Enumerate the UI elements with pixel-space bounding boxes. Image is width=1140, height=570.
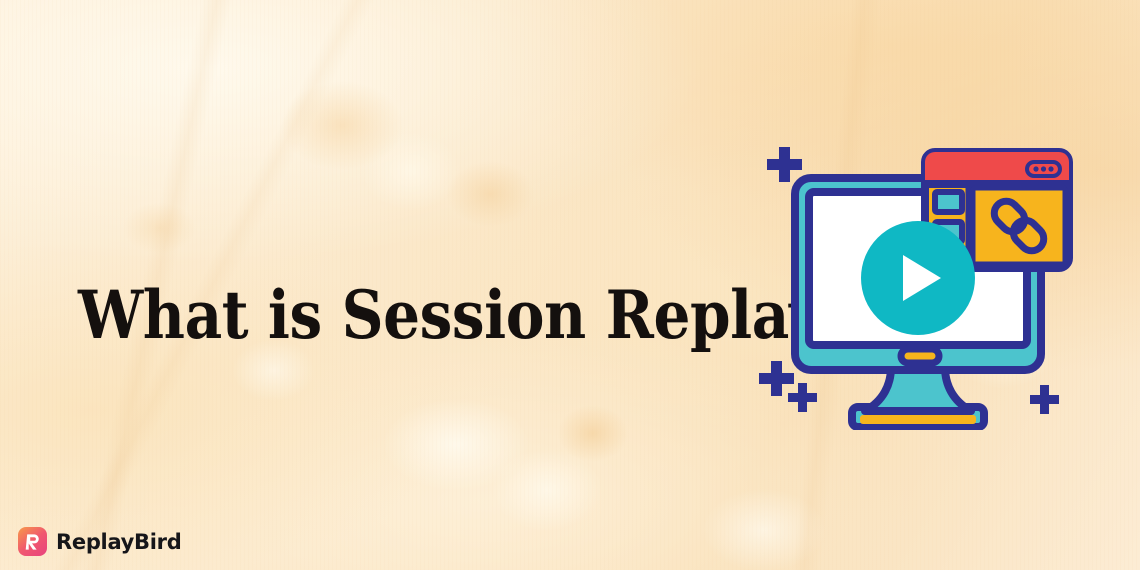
browser-sidebar-tile-1 (935, 192, 962, 212)
replaybird-logo-icon (18, 527, 47, 556)
banner-canvas: What is Session Replay? (0, 0, 1140, 570)
plus-sparkle-top-left (767, 147, 802, 182)
session-replay-illustration (745, 130, 1090, 430)
brand-logo[interactable]: ReplayBird (18, 527, 181, 556)
plus-sparkle-bottom-right (1030, 385, 1059, 414)
play-button-icon (861, 221, 975, 335)
page-title: What is Session Replay? (78, 282, 694, 348)
plus-sparkle-bottom-left-large (759, 361, 794, 396)
plus-sparkle-bottom-left-small (788, 383, 817, 412)
brand-name: ReplayBird (56, 530, 181, 554)
browser-titlebar (925, 152, 1069, 184)
power-indicator (901, 349, 939, 363)
monitor-base-accent (860, 415, 976, 424)
